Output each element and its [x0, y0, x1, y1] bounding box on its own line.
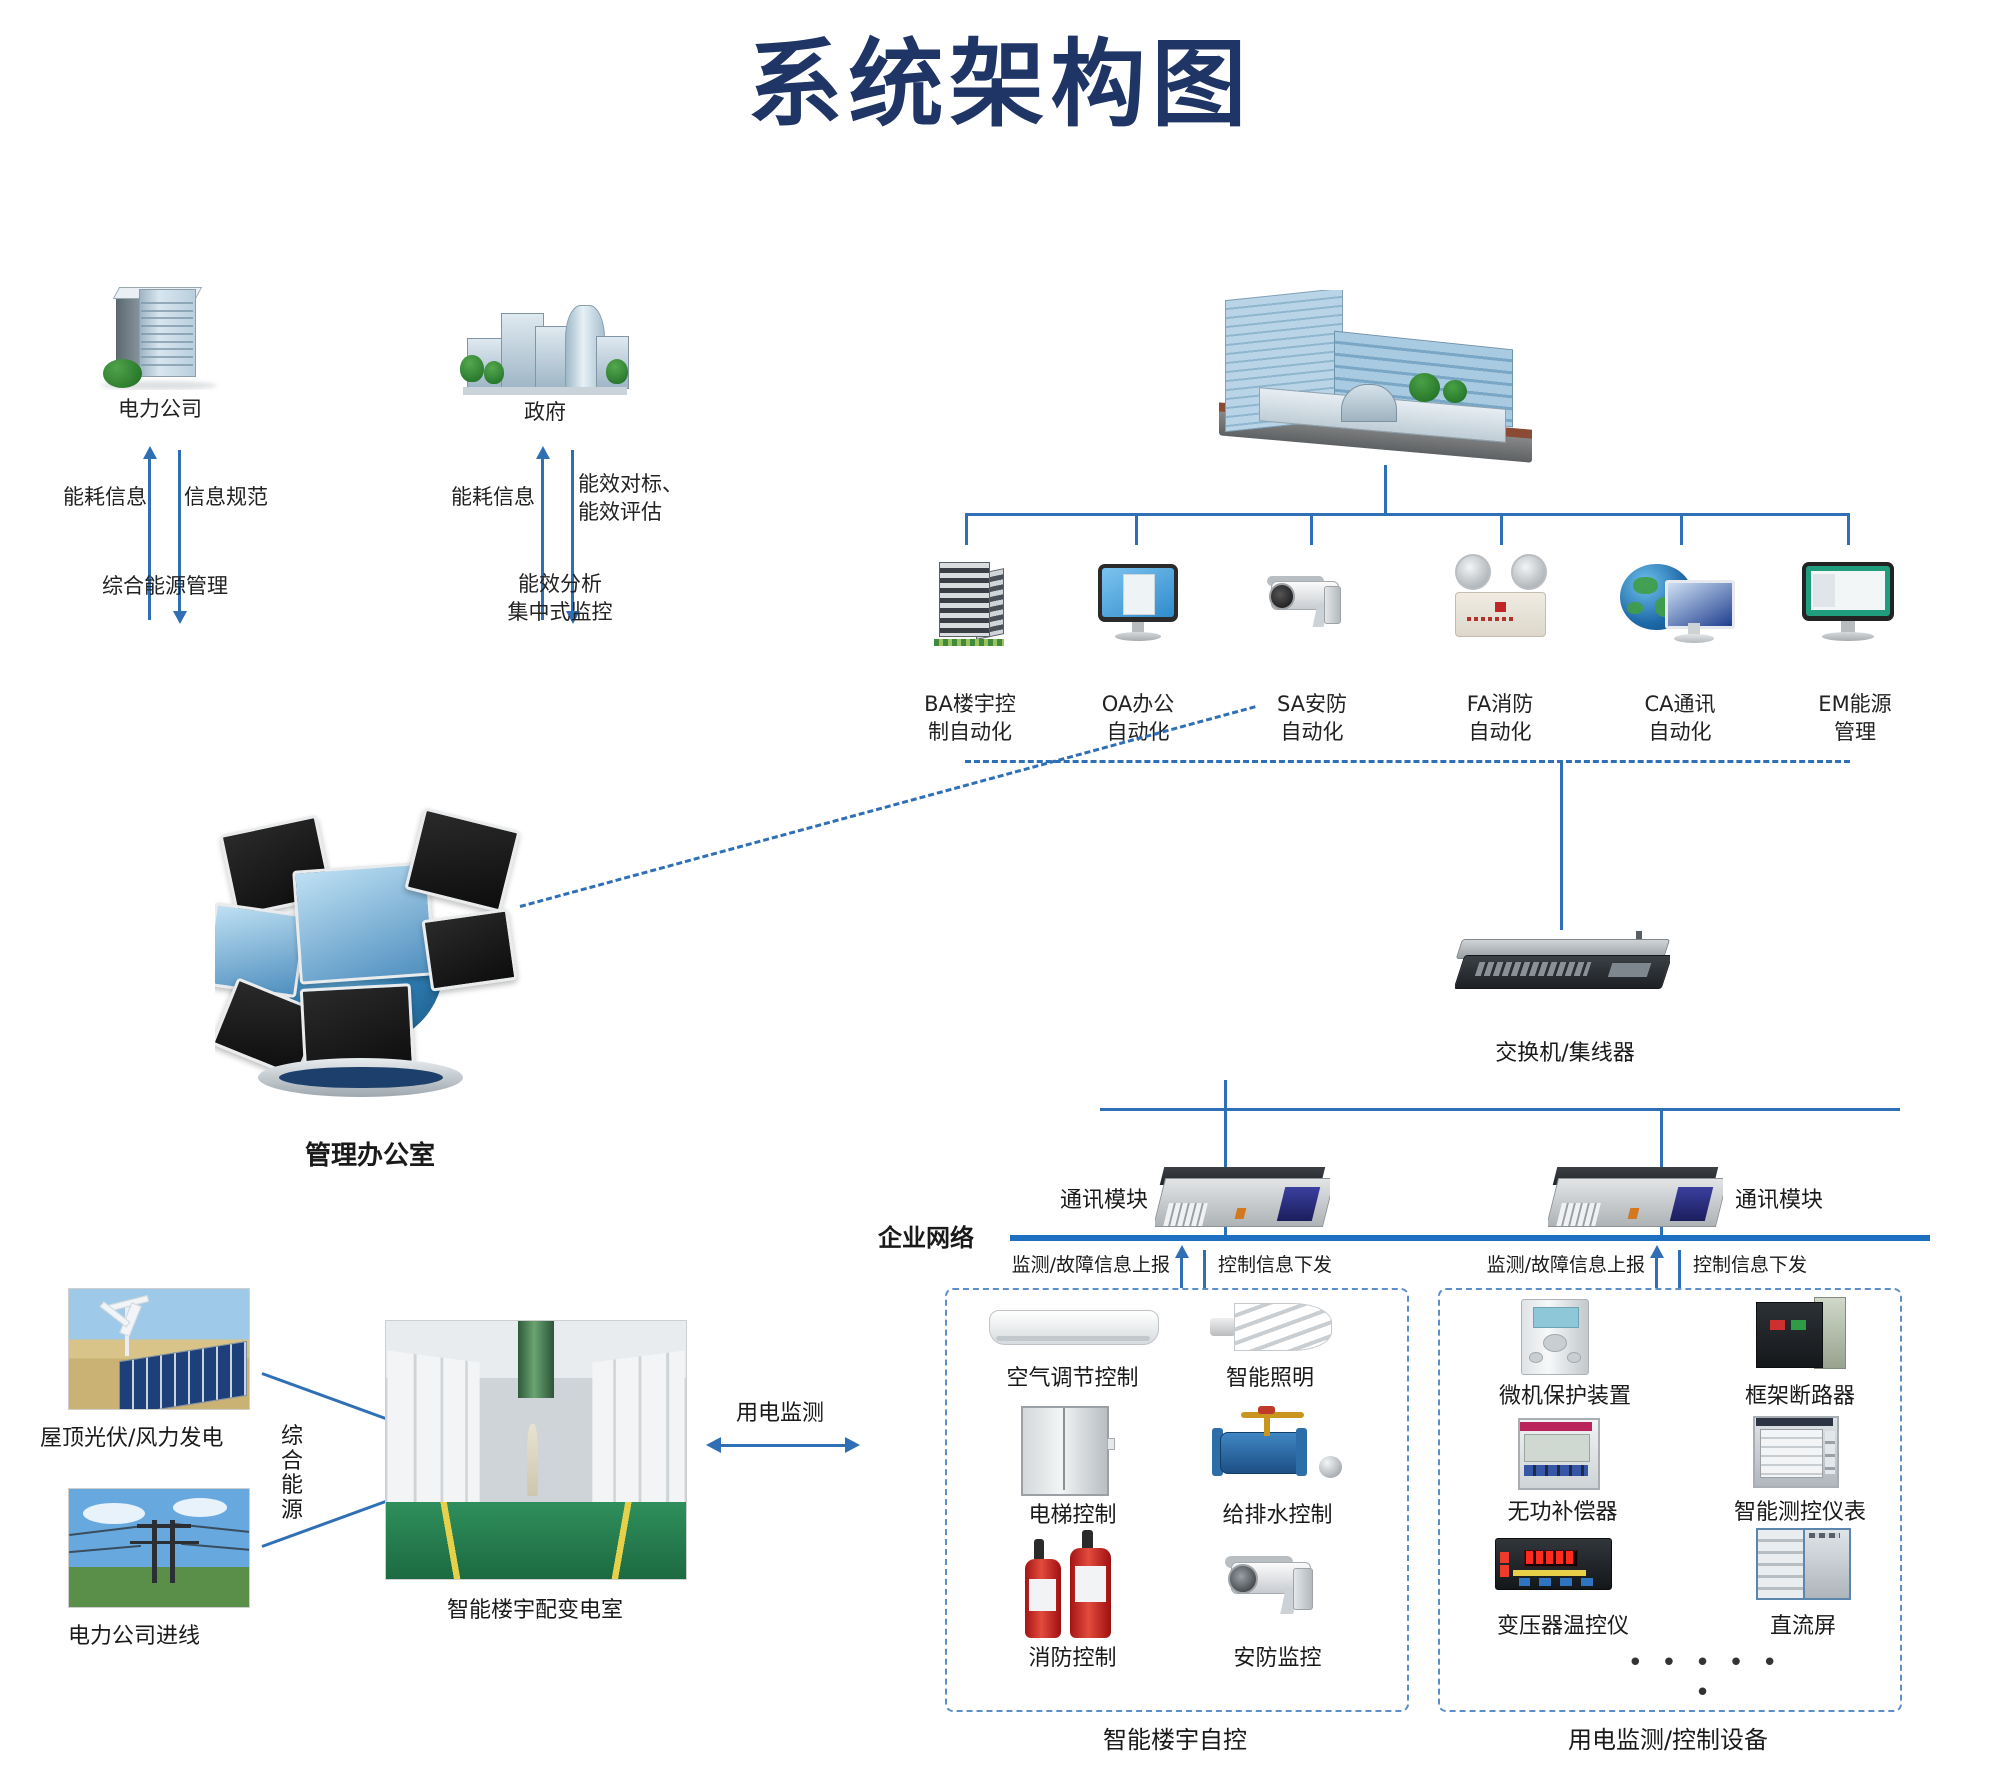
pm-item-label-4: 变压器温控仪	[1468, 1608, 1658, 1640]
management-office-icon	[215, 800, 525, 1100]
power-monitor-flow-arrow-right	[845, 1437, 860, 1453]
dc-power-cabinet-icon	[1750, 1522, 1855, 1602]
subsystem-dashed-bus	[965, 760, 1850, 763]
combine-energy-label: 综合能源	[278, 1425, 306, 1524]
pm-item-label-5: 直流屏	[1708, 1608, 1898, 1640]
subsystem-stub-6	[1847, 513, 1850, 545]
water-valve-icon	[1200, 1398, 1345, 1498]
pm-item-label-0: 微机保护装置	[1470, 1378, 1660, 1410]
ba-item-label-3: 给排水控制	[1190, 1497, 1365, 1529]
power-monitor-flow-line	[718, 1444, 848, 1447]
government-icon	[460, 290, 630, 395]
subsystem-label-sa: SA安防 自动化	[1237, 690, 1387, 747]
subsystem-stub-1	[965, 513, 968, 545]
subsystem-stub-5	[1680, 513, 1683, 545]
subsystem-stub-3	[1310, 513, 1313, 545]
network-switch-icon	[1455, 928, 1670, 1008]
pm-item-label-2: 无功补偿器	[1475, 1494, 1650, 1526]
flow-right-down-label: 控制信息下发	[1693, 1250, 1863, 1277]
power-monitor-flow-label: 用电监测	[700, 1395, 860, 1427]
switch-label: 交换机/集线器	[1400, 1035, 1730, 1067]
elevator-icon	[1010, 1400, 1120, 1500]
management-office-label: 管理办公室	[200, 1135, 540, 1172]
transformer-temperature-controller-icon	[1490, 1528, 1620, 1600]
enterprise-network-label: 企业网络	[878, 1218, 1008, 1253]
subsystem-label-em: EM能源 管理	[1780, 690, 1930, 747]
flow-left-up-arrow	[1180, 1254, 1183, 1288]
flow-right-up-arrow	[1655, 1254, 1658, 1288]
power-monitoring-caption: 用电监测/控制设备	[1438, 1720, 1898, 1755]
flow-right-down-arrow	[1678, 1250, 1681, 1288]
subsystem-label-fa: FA消防 自动化	[1425, 690, 1575, 747]
solar-wind-label: 屋顶光伏/风力发电	[40, 1420, 300, 1452]
subsystem-label-ba: BA楼宇控 制自动化	[895, 690, 1045, 747]
smart-meter-icon	[1745, 1410, 1850, 1490]
page-title: 系统架构图	[0, 8, 2000, 145]
government-label: 政府	[450, 398, 640, 426]
power-pylon-photo	[68, 1488, 250, 1608]
cfl-bulb-icon	[1205, 1294, 1335, 1360]
power-company-icon	[95, 280, 225, 390]
oa-office-automation-icon	[1090, 560, 1186, 648]
pm-item-label-1: 框架断路器	[1705, 1378, 1895, 1410]
flow-left-down-arrow	[1203, 1250, 1206, 1288]
substation-corridor-photo	[385, 1320, 687, 1580]
power-company-label: 电力公司	[60, 395, 260, 423]
ca-communication-automation-icon	[1620, 560, 1738, 650]
grid-feed-label: 电力公司进线	[68, 1618, 298, 1650]
subsystem-bus-line	[965, 513, 1850, 516]
government-up-label: 能耗信息	[440, 483, 535, 511]
fa-fire-automation-icon	[1443, 552, 1561, 648]
reactive-power-compensator-icon	[1510, 1412, 1610, 1492]
management-office-link	[520, 705, 1256, 908]
flow-right-up-label: 监测/故障信息上报	[1440, 1250, 1645, 1277]
em-energy-management-icon	[1793, 558, 1903, 648]
power-company-down-label: 信息规范	[184, 483, 294, 511]
cctv-camera-icon	[1215, 1538, 1345, 1638]
ba-item-label-2: 电梯控制	[985, 1497, 1160, 1529]
ba-item-label-1: 智能照明	[1205, 1360, 1335, 1392]
power-company-up-label: 能耗信息	[52, 483, 147, 511]
ba-item-label-4: 消防控制	[985, 1640, 1160, 1672]
energy-analysis-label: 能效分析 集中式监控	[440, 570, 680, 627]
solar-wind-photo	[68, 1288, 250, 1410]
flow-left-up-label: 监测/故障信息上报	[965, 1250, 1170, 1277]
subsystem-stub-4	[1500, 513, 1503, 545]
building-drop-line	[1384, 465, 1387, 515]
comm-module-bus	[1100, 1108, 1900, 1111]
power-monitoring-ellipsis: • • • • • •	[1620, 1648, 1790, 1708]
enterprise-network-bus	[1010, 1235, 1930, 1241]
air-circuit-breaker-icon	[1745, 1292, 1850, 1374]
switch-uplink-line	[1560, 760, 1563, 930]
communication-module-right-label: 通讯模块	[1735, 1182, 1885, 1214]
subsystem-label-ca: CA通讯 自动化	[1605, 690, 1755, 747]
air-conditioner-icon	[985, 1298, 1160, 1360]
protection-relay-icon	[1505, 1296, 1605, 1376]
sa-security-automation-icon	[1258, 560, 1368, 648]
building-automation-caption: 智能楼宇自控	[945, 1720, 1405, 1755]
communication-module-left-label: 通讯模块	[1028, 1182, 1148, 1214]
comprehensive-energy-management-label: 综合能源管理	[35, 572, 295, 600]
flow-left-down-label: 控制信息下发	[1218, 1250, 1388, 1277]
switch-downlink-line	[1224, 1080, 1227, 1110]
ba-item-label-5: 安防监控	[1190, 1640, 1365, 1672]
government-down-label: 能效对标、 能效评估	[578, 470, 708, 527]
power-monitor-flow-arrow-left	[706, 1437, 721, 1453]
fire-extinguisher-icon	[1015, 1530, 1135, 1642]
subsystem-stub-2	[1135, 513, 1138, 545]
combine-arrow-top	[261, 1372, 403, 1426]
ba-building-automation-icon	[925, 556, 1013, 648]
main-building-icon	[1205, 290, 1545, 470]
substation-label: 智能楼宇配变电室	[370, 1592, 700, 1624]
ba-item-label-0: 空气调节控制	[985, 1360, 1160, 1392]
